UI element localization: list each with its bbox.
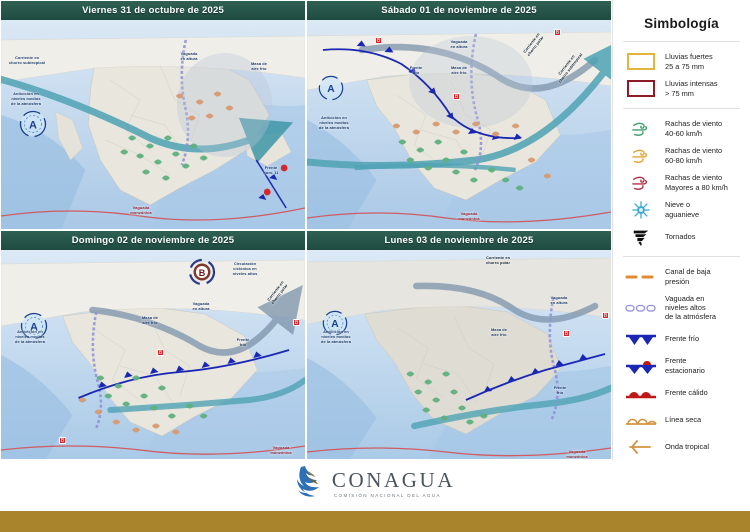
low-pressure-marker: B [375,37,382,44]
tornado-icon [623,227,659,247]
map-domingo[interactable] [1,250,305,460]
legend-label: Nieve o aguanieve [665,200,699,219]
map-sabado[interactable] [307,20,611,230]
svg-text:A: A [327,84,335,95]
rain-heavy-box-icon [623,52,659,72]
wind-gust-icon [623,119,659,139]
legend-divider [623,108,740,109]
legend-item-lluvias-intensas[interactable]: Lluvias intensas > 75 mm [619,75,744,102]
svg-text:A: A [331,319,339,330]
anticyclone-marker-viernes: A [18,109,48,139]
legend-item-canal-baja-presion[interactable]: Canal de baja presión [619,263,744,290]
legend-item-onda-tropical[interactable]: Onda tropical [619,433,744,460]
low-pressure-marker: B [554,29,561,36]
low-pressure-marker: B [563,330,570,337]
forecast-panel-domingo[interactable]: Domingo 02 de noviembre de 2025 [0,230,306,460]
rain-intense-box-icon [623,79,659,99]
wind-gust-icon [623,146,659,166]
cyclonic-circulation-marker: B [187,257,217,287]
legend-list: Lluvias fuertes 25 a 75 mm Lluvias inten… [619,48,744,460]
map-lunes[interactable] [307,250,611,460]
legend-item-frente-frio[interactable]: Frente frío [619,325,744,352]
panel-title-sabado: Sábado 01 de noviembre de 2025 [307,1,611,20]
low-pressure-marker: B [157,349,164,356]
legend-label: Vaguada en niveles altos de la atmósfera [665,294,716,322]
svg-text:A: A [29,120,37,132]
svg-text:A: A [30,322,38,334]
panel-title-lunes: Lunes 03 de noviembre de 2025 [307,231,611,250]
legend-label: Rachas de viento 60-80 km/h [665,146,722,165]
legend-divider [623,41,740,42]
upper-trough-icon [623,298,659,318]
legend-item-rachas-mayores-80[interactable]: Rachas de viento Mayores a 80 km/h [619,169,744,196]
cold-front-icon [623,329,659,349]
legend-item-nieve[interactable]: Nieve o aguanieve [619,196,744,223]
legend-label: Rachas de viento 40-60 km/h [665,119,722,138]
legend-label: Frente frío [665,334,699,343]
bottom-accent-band [0,511,750,532]
legend-title: Simbología [619,16,744,31]
legend-item-frente-estacionario[interactable]: Frente estacionario [619,352,744,379]
logo-text: CONAGUA COMISIÓN NACIONAL DEL AGUA [332,470,455,499]
trough-low-icon [623,267,659,287]
svg-text:B: B [199,268,206,278]
legend-panel: Simbología Lluvias fuertes 25 a 75 mm Ll… [612,0,750,460]
panel-title-viernes: Viernes 31 de octubre de 2025 [1,1,305,20]
legend-item-lluvias-fuertes[interactable]: Lluvias fuertes 25 a 75 mm [619,48,744,75]
dry-line-icon [623,410,659,430]
forecast-panel-sabado[interactable]: Sábado 01 de noviembre de 2025 [306,0,612,230]
weather-forecast-page: Viernes 31 de octubre de 2025 [0,0,750,532]
tropical-wave-icon [623,437,659,457]
low-pressure-marker: B [602,312,609,319]
anticyclone-marker-sabado: A [317,74,345,102]
logo-title: CONAGUA [332,470,455,491]
footer: CONAGUA COMISIÓN NACIONAL DEL AGUA [0,460,750,508]
anticyclone-marker-lunes: A [321,309,349,337]
forecast-panels: Viernes 31 de octubre de 2025 [0,0,612,460]
stationary-front-icon [623,356,659,376]
warm-front-icon [623,383,659,403]
legend-label: Canal de baja presión [665,267,711,286]
forecast-panel-lunes[interactable]: Lunes 03 de noviembre de 2025 [306,230,612,460]
conagua-logo: CONAGUA COMISIÓN NACIONAL DEL AGUA [295,465,455,504]
anticyclone-marker-domingo: A [19,311,49,341]
legend-label: Lluvias fuertes 25 a 75 mm [665,52,713,71]
low-pressure-marker: B [293,319,300,326]
legend-label: Rachas de viento Mayores a 80 km/h [665,173,728,192]
legend-label: Línea seca [665,415,701,424]
forecast-panel-viernes[interactable]: Viernes 31 de octubre de 2025 [0,0,306,230]
legend-label: Tornados [665,232,695,241]
eagle-wave-emblem-icon [295,465,325,504]
legend-item-rachas-60-80[interactable]: Rachas de viento 60-80 km/h [619,142,744,169]
legend-label: Lluvias intensas > 75 mm [665,79,718,98]
legend-label: Onda tropical [665,442,709,451]
legend-item-frente-calido[interactable]: Frente cálido [619,379,744,406]
panel-title-domingo: Domingo 02 de noviembre de 2025 [1,231,305,250]
legend-item-rachas-40-60[interactable]: Rachas de viento 40-60 km/h [619,115,744,142]
legend-label: Frente cálido [665,388,708,397]
legend-divider [623,256,740,257]
snow-icon [623,200,659,220]
low-pressure-marker: B [453,93,460,100]
legend-item-vaguada-niveles-altos[interactable]: Vaguada en niveles altos de la atmósfera [619,290,744,325]
legend-item-tornados[interactable]: Tornados [619,223,744,250]
logo-subtitle: COMISIÓN NACIONAL DEL AGUA [334,494,455,499]
low-pressure-marker: B [59,437,66,444]
legend-item-linea-seca[interactable]: Línea seca [619,406,744,433]
legend-label: Frente estacionario [665,356,705,375]
wind-gust-icon [623,173,659,193]
